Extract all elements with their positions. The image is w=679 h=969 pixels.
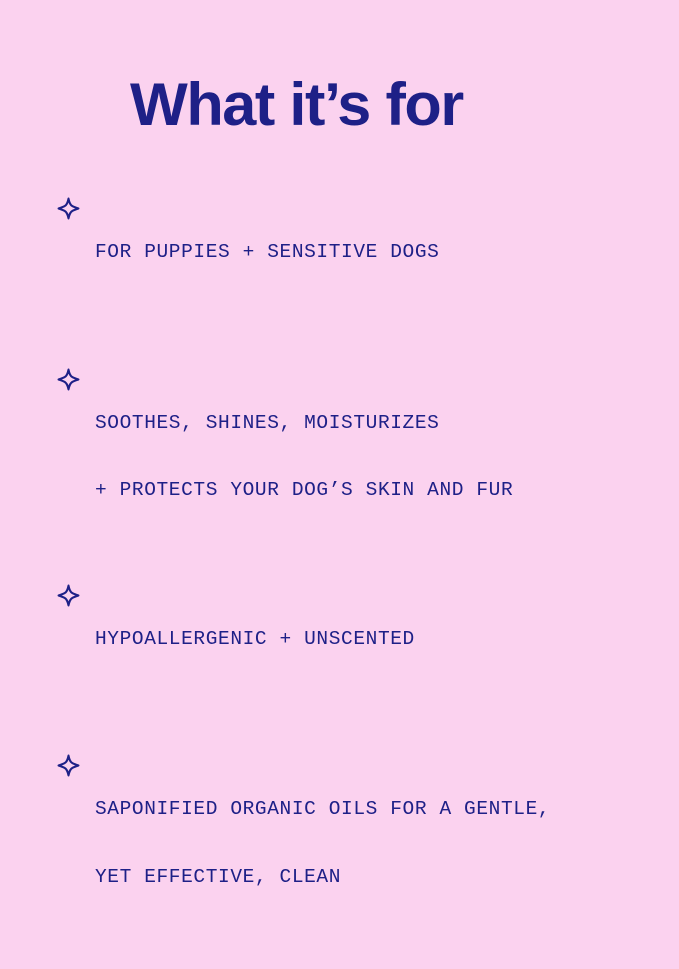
feature-list: FOR PUPPIES + SENSITIVE DOGS SOOTHES, SH… bbox=[0, 196, 679, 969]
list-item-line: + PROTECTS YOUR DOG’S SKIN AND FUR bbox=[95, 479, 679, 502]
page-title: What it’s for bbox=[130, 74, 463, 136]
list-item-text: HYPOALLERGENIC + UNSCENTED bbox=[95, 583, 679, 696]
list-item-line: YET EFFECTIVE, CLEAN bbox=[95, 866, 679, 889]
list-item-line: SOOTHES, SHINES, MOISTURIZES bbox=[95, 412, 679, 435]
product-benefits-panel: What it’s for FOR PUPPIES + SENSITIVE DO… bbox=[0, 0, 679, 679]
list-item-text: SOOTHES, SHINES, MOISTURIZES + PROTECTS … bbox=[95, 367, 679, 547]
four-point-star-icon bbox=[57, 754, 80, 777]
list-item-text: FOR PUPPIES + SENSITIVE DOGS bbox=[95, 196, 679, 309]
list-item-line: FOR PUPPIES + SENSITIVE DOGS bbox=[95, 241, 679, 264]
list-item: FOR PUPPIES + SENSITIVE DOGS bbox=[0, 196, 679, 309]
list-item-line: HYPOALLERGENIC + UNSCENTED bbox=[95, 628, 679, 651]
list-item: SOOTHES, SHINES, MOISTURIZES + PROTECTS … bbox=[0, 367, 679, 547]
list-item: SAPONIFIED ORGANIC OILS FOR A GENTLE, YE… bbox=[0, 753, 679, 933]
four-point-star-icon bbox=[57, 197, 80, 220]
list-item-line: SAPONIFIED ORGANIC OILS FOR A GENTLE, bbox=[95, 798, 679, 821]
four-point-star-icon bbox=[57, 368, 80, 391]
list-item-text: SAPONIFIED ORGANIC OILS FOR A GENTLE, YE… bbox=[95, 753, 679, 933]
four-point-star-icon bbox=[57, 584, 80, 607]
list-item: HYPOALLERGENIC + UNSCENTED bbox=[0, 583, 679, 696]
